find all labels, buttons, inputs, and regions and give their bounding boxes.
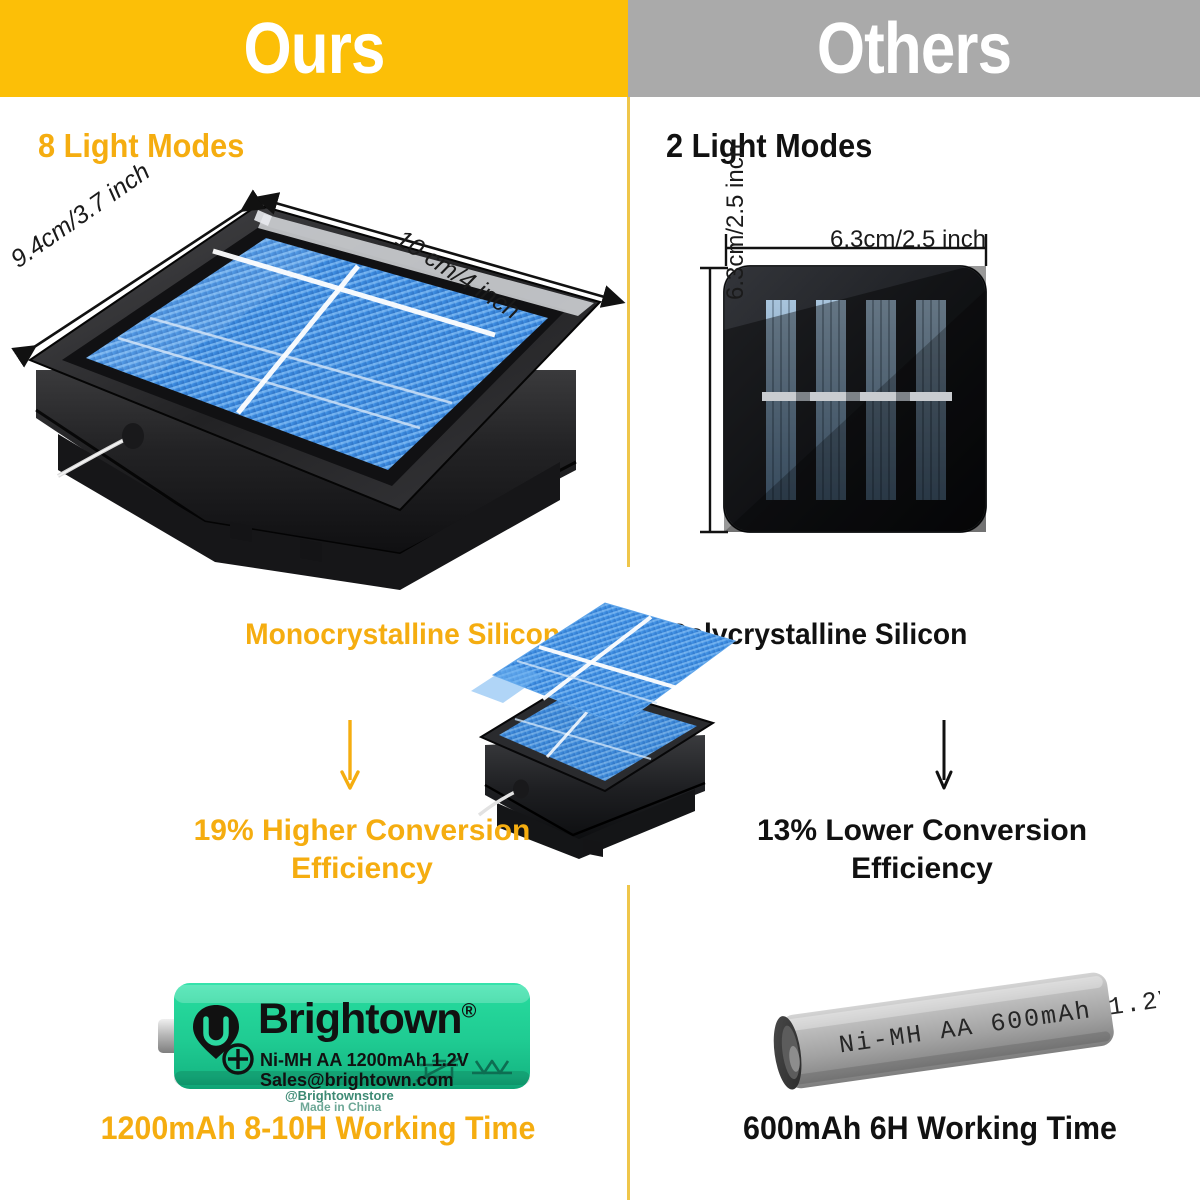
dimension-label-ours-length: 10 cm/4 inch (390, 224, 525, 326)
comparison-infographic: Ours Others 8 Light Modes 2 Light Modes (0, 0, 1200, 1200)
dimension-label-others-width: 6.3cm/2.5 inch (830, 226, 986, 254)
dimension-label-ours-width: 9.4cm/3.7 inch (6, 157, 156, 274)
battery-spec-text-others: Ni-MH AA 600mAh 1.2V (837, 984, 1160, 1060)
header-band-others: Others (628, 0, 1200, 97)
header-band-ours: Ours (0, 0, 628, 97)
center-divider-bottom (627, 885, 630, 1200)
efficiency-label-others: 13% Lower Conversion Efficiency (722, 812, 1122, 887)
silicon-type-label-ours: Monocrystalline Silicon (245, 618, 560, 652)
header-title-others: Others (817, 13, 1011, 85)
dimension-label-others-height: 6.3cm/2.5 inch (722, 144, 750, 300)
light-modes-label-others: 2 Light Modes (666, 127, 872, 165)
battery-trademark-symbol: ® (462, 1001, 476, 1023)
arrow-down-icon-ours (338, 718, 362, 792)
battery-caption-others: 600mAh 6H Working Time (664, 1110, 1196, 1147)
battery-brand-name: Brightown (258, 995, 462, 1043)
efficiency-label-ours: 19% Higher Conversion Efficiency (162, 812, 562, 887)
solar-panel-others-illustration (700, 210, 1060, 550)
solar-panel-ours-illustration (0, 170, 630, 590)
battery-caption-ours: 1200mAh 8-10H Working Time (52, 1110, 584, 1147)
arrow-down-icon-others (932, 718, 956, 792)
light-modes-label-ours: 8 Light Modes (38, 127, 244, 165)
battery-spec-text-ours: Ni-MH AA 1200mAh 1.2V (260, 1050, 469, 1071)
dimension-arrows-others (700, 210, 1060, 550)
center-divider-top (627, 97, 630, 567)
battery-brand-text-ours: Brightown® (258, 995, 475, 1044)
battery-others-illustration: Ni-MH AA 600mAh 1.2V (740, 965, 1160, 1095)
silicon-type-label-others: Polycrystalline Silicon (668, 618, 967, 652)
header-title-ours: Ours (243, 13, 384, 85)
